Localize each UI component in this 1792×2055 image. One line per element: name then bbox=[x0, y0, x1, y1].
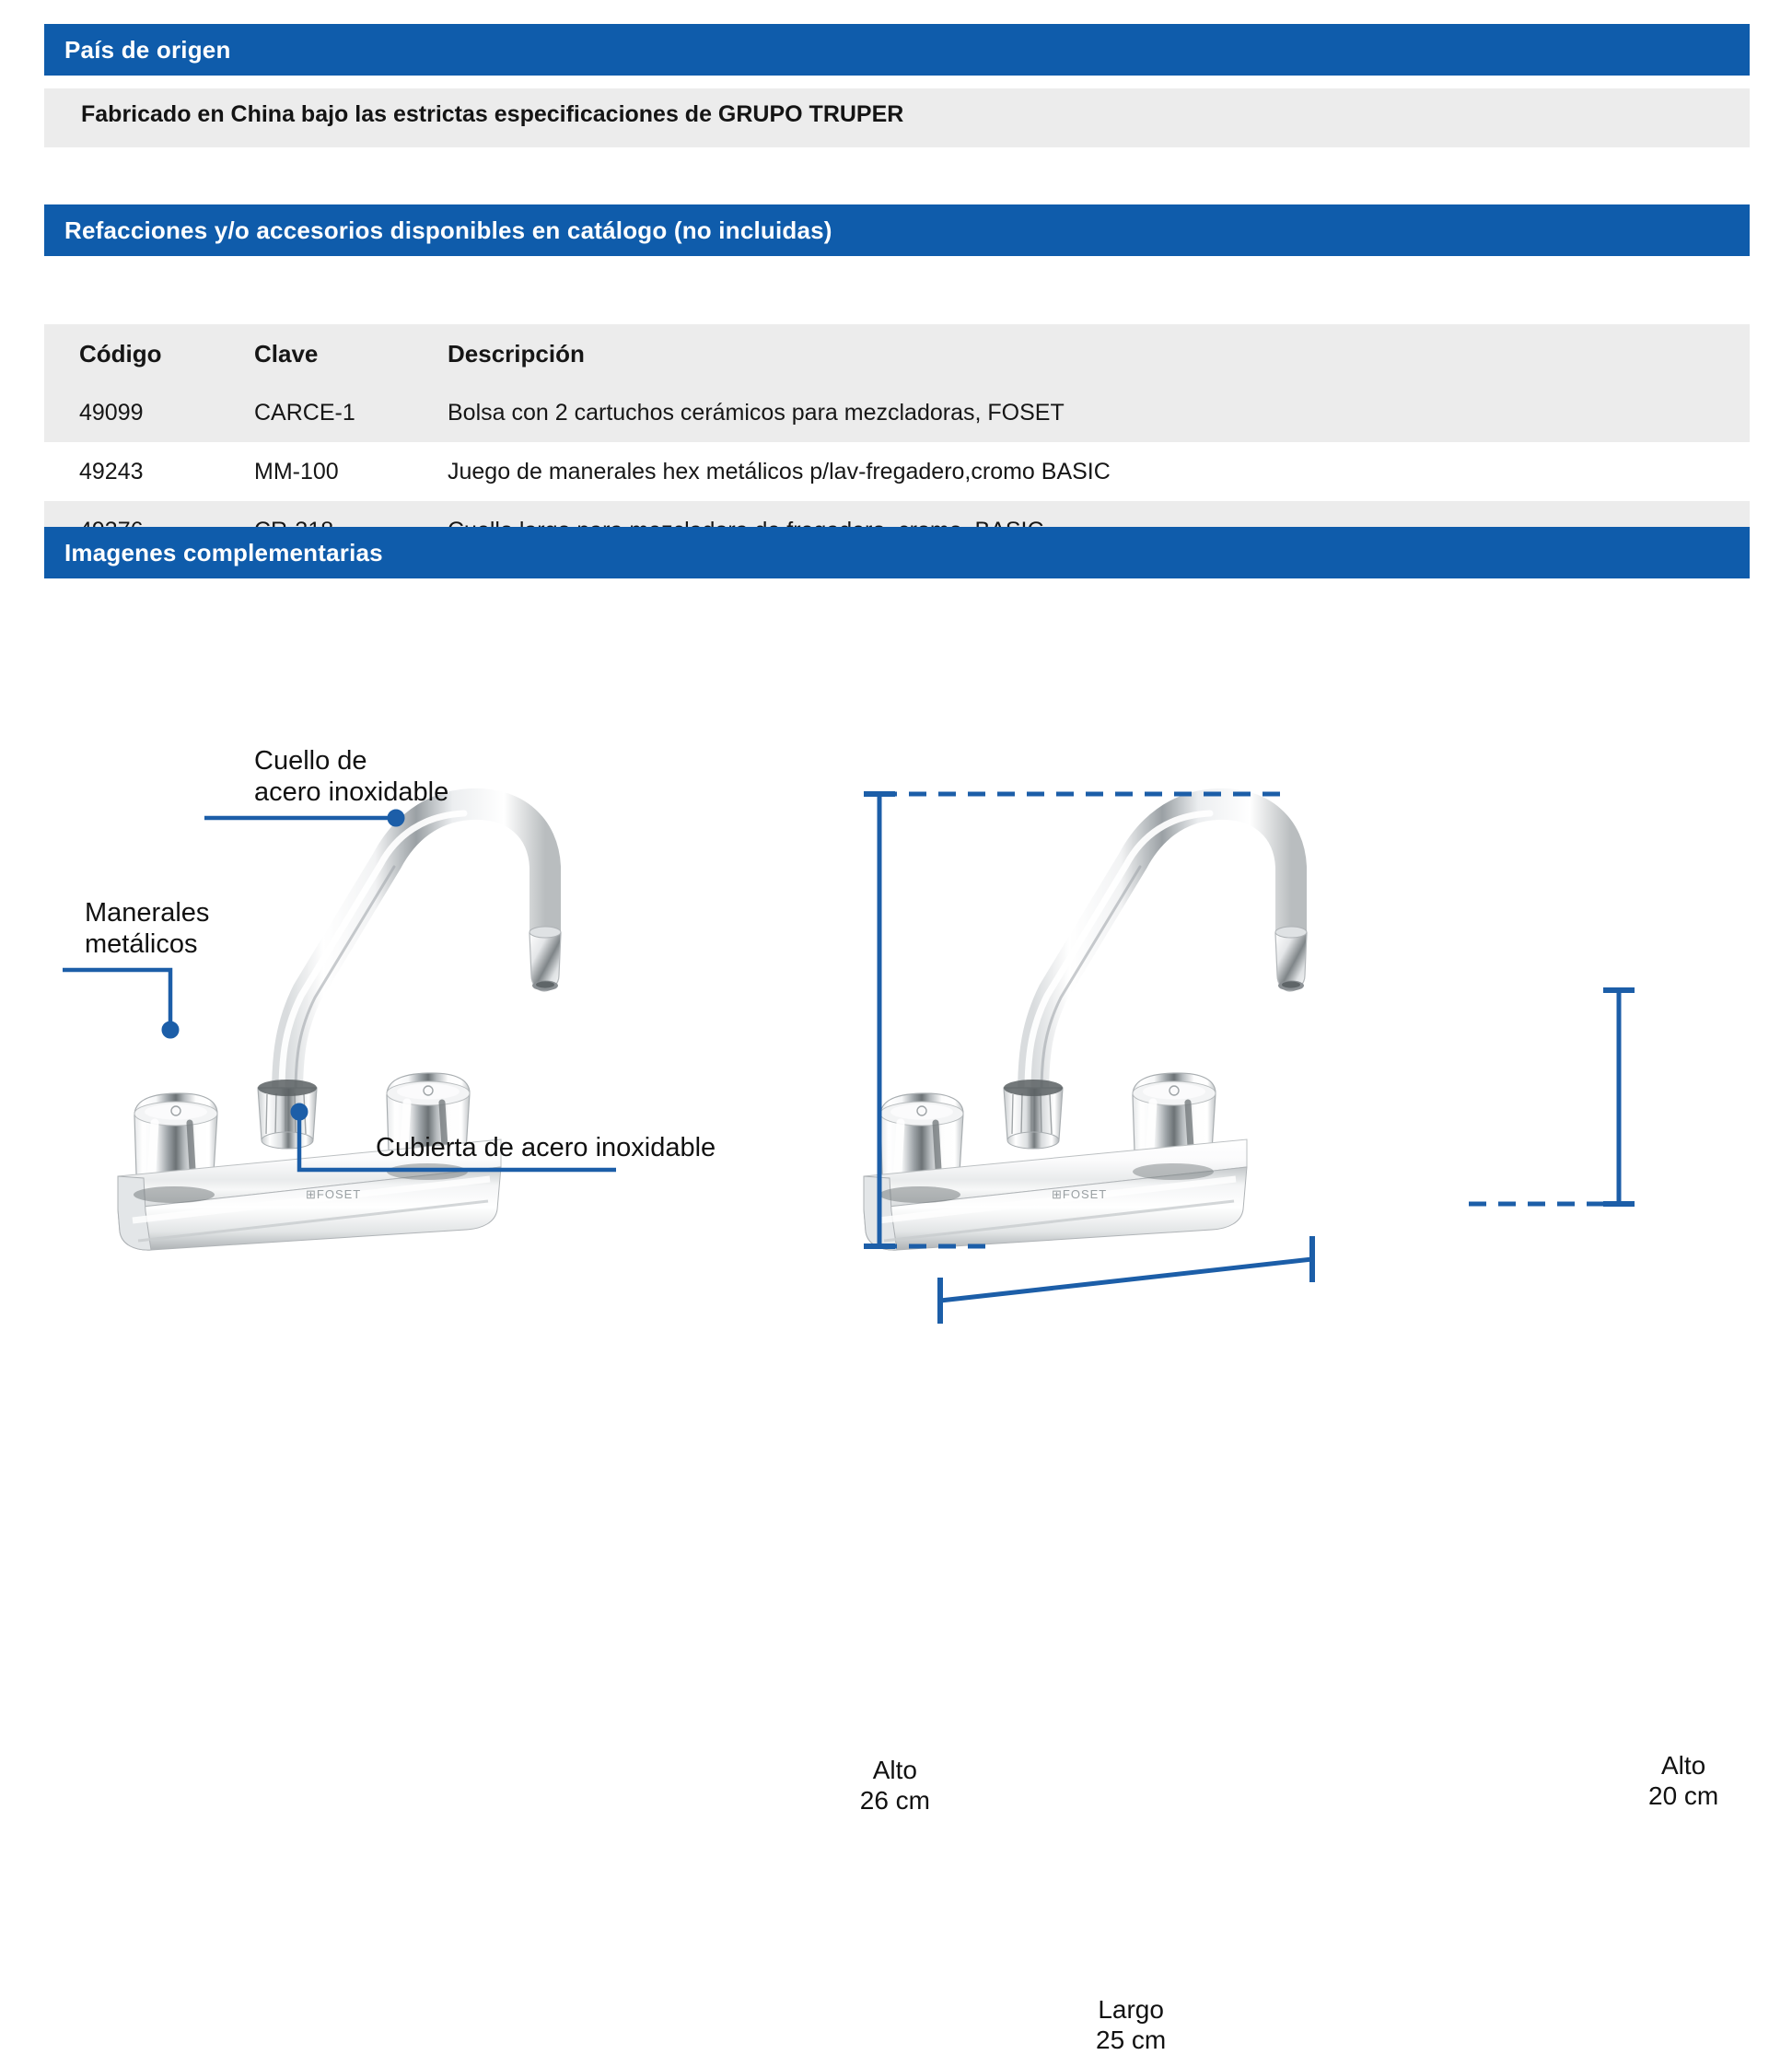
dimension-label-alto-26: Alto 26 cm bbox=[860, 1755, 930, 1816]
section-title-origin: País de origen bbox=[64, 38, 231, 62]
callout-label-deck: Cubierta de acero inoxidable bbox=[376, 1133, 716, 1164]
cell-codigo: 49243 bbox=[44, 442, 254, 501]
cell-codigo: 49099 bbox=[44, 383, 254, 442]
origin-body-text: Fabricado en China bajo las estrictas es… bbox=[81, 103, 903, 126]
illustration-area: ⊞FOSET ⊞FOSET bbox=[0, 709, 1792, 1553]
column-header-codigo: Código bbox=[44, 324, 254, 383]
cell-clave: CARCE-1 bbox=[254, 383, 448, 442]
section-title-images: Imagenes complementarias bbox=[64, 541, 383, 565]
table-row: 49243 MM-100 Juego de manerales hex metá… bbox=[44, 442, 1750, 501]
brand-mark-left: ⊞FOSET bbox=[306, 1187, 361, 1201]
callout-label-neck: Cuello de acero inoxidable bbox=[254, 746, 448, 808]
section-title-parts: Refacciones y/o accesorios disponibles e… bbox=[64, 218, 832, 242]
table-header-row: Código Clave Descripción bbox=[44, 324, 1750, 383]
section-header-parts: Refacciones y/o accesorios disponibles e… bbox=[44, 204, 1750, 256]
callout-label-handles: Manerales metálicos bbox=[85, 898, 209, 960]
parts-table: Código Clave Descripción 49099 CARCE-1 B… bbox=[44, 324, 1750, 560]
cell-descripcion: Bolsa con 2 cartuchos cerámicos para mez… bbox=[448, 383, 1750, 442]
faucet-diagrams-svg: ⊞FOSET ⊞FOSET bbox=[0, 709, 1792, 1553]
faucet-illustration-right: ⊞FOSET bbox=[864, 804, 1307, 1250]
dimension-lines bbox=[864, 794, 1635, 1324]
table-row: 49099 CARCE-1 Bolsa con 2 cartuchos cerá… bbox=[44, 383, 1750, 442]
dimension-label-alto-20: Alto 20 cm bbox=[1648, 1750, 1718, 1811]
brand-mark-right: ⊞FOSET bbox=[1052, 1187, 1107, 1201]
parts-table-wrapper: Código Clave Descripción 49099 CARCE-1 B… bbox=[44, 324, 1750, 560]
cell-clave: MM-100 bbox=[254, 442, 448, 501]
leader-dot-neck bbox=[388, 810, 404, 826]
dimension-label-largo-25: Largo 25 cm bbox=[1096, 1994, 1166, 2055]
leader-line-handles bbox=[63, 970, 170, 1025]
leader-dot-handles bbox=[162, 1022, 179, 1038]
column-header-descripcion: Descripción bbox=[448, 324, 1750, 383]
faucet-illustration-left: ⊞FOSET bbox=[118, 804, 561, 1250]
column-header-clave: Clave bbox=[254, 324, 448, 383]
dimension-line-largo-25 bbox=[940, 1259, 1312, 1301]
section-header-origin: País de origen bbox=[44, 24, 1750, 76]
cell-descripcion: Juego de manerales hex metálicos p/lav-f… bbox=[448, 442, 1750, 501]
section-header-images: Imagenes complementarias bbox=[44, 527, 1750, 578]
